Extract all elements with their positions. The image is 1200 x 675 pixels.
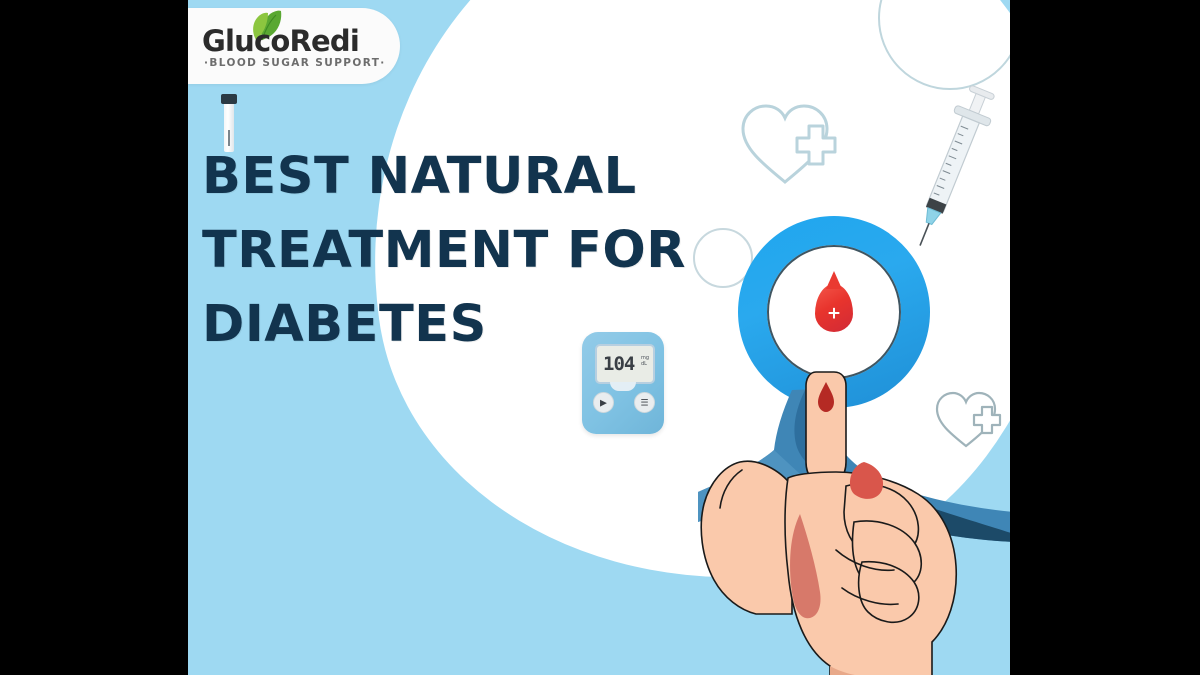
headline-line-1: BEST NATURAL (202, 140, 742, 214)
play-icon: ▶ (600, 398, 607, 407)
logo-content: GlucoRedi ·BLOOD SUGAR SUPPORT· (202, 18, 392, 76)
logo-wordmark-text: GlucoRedi (202, 24, 359, 58)
headline-line-3: DIABETES (202, 288, 742, 362)
headline-line-2: TREATMENT FOR (202, 214, 742, 288)
meter-screen-lip (610, 382, 636, 391)
hand-holding-ribbon (696, 366, 1010, 675)
page-title: BEST NATURAL TREATMENT FOR DIABETES (202, 140, 742, 362)
plus-icon: + (827, 305, 841, 322)
heart-with-cross-icon (733, 98, 837, 188)
letterbox-bar-right (1010, 0, 1200, 675)
letterbox-bar-left (0, 0, 188, 675)
logo-tagline: ·BLOOD SUGAR SUPPORT· (204, 57, 386, 69)
logo-wordmark: GlucoRedi (202, 24, 359, 58)
meter-button-right[interactable]: ☰ (634, 392, 655, 413)
glucoredi-logo-badge[interactable]: GlucoRedi ·BLOOD SUGAR SUPPORT· (188, 8, 400, 84)
poster-screenshot: 104 mg dL ▶ ☰ + (0, 0, 1200, 675)
meter-button-left[interactable]: ▶ (593, 392, 614, 413)
menu-icon: ☰ (640, 398, 648, 407)
poster-canvas: 104 mg dL ▶ ☰ + (188, 0, 1010, 675)
meter-strip-slot (221, 94, 237, 104)
